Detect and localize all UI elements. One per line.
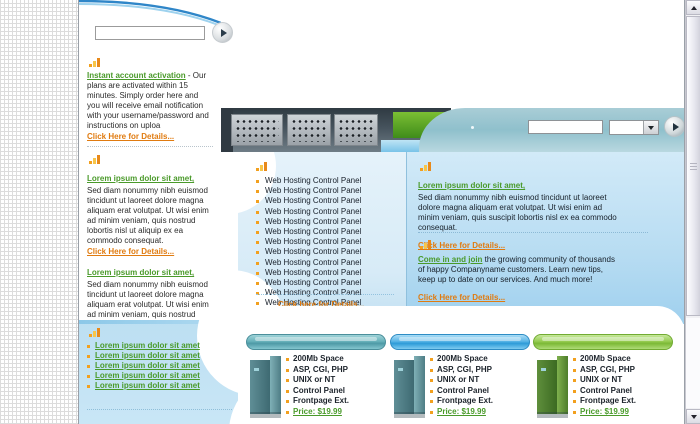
promo-block: Come in and join the growing community o… [418, 240, 618, 302]
bar-steps-icon [420, 240, 431, 249]
plan-card[interactable]: 200Mb Space ASP, CGI, PHP UNIX or NT Con… [390, 334, 530, 420]
header-select[interactable] [609, 120, 659, 135]
header-banner [221, 108, 685, 152]
promo-body-text: Come in and join the growing community o… [418, 255, 618, 285]
news-title-link[interactable]: Lorem ipsum dolor sit amet, [87, 174, 194, 183]
server-rack [287, 114, 331, 146]
plan-card[interactable]: 200Mb Space ASP, CGI, PHP UNIX or NT Con… [246, 334, 386, 420]
sidebar-link[interactable]: Lorem ipsum dolor sit amet [95, 351, 200, 360]
plan-feature: Frontpage Ext. [573, 396, 669, 407]
news-title-link[interactable]: Lorem ipsum dolor sit amet, [87, 268, 194, 277]
bar-steps-icon [89, 155, 100, 164]
server-racks-photo [221, 108, 451, 152]
play-arrow-icon [221, 29, 227, 37]
link-items: Lorem ipsum dolor sit amet Lorem ipsum d… [87, 341, 247, 391]
column-divider [406, 152, 407, 324]
sidebar-link[interactable]: Lorem ipsum dolor sit amet [95, 381, 200, 390]
plan-header-bar [533, 334, 673, 350]
chevron-down-icon[interactable] [643, 121, 658, 134]
website-content: Instant account activation - Our plans a… [78, 0, 685, 424]
chevron-up-icon [691, 6, 697, 10]
details-link[interactable]: Click Here for Details... [87, 247, 213, 256]
server-tower-icon [394, 356, 426, 418]
hosting-feature-list: Web Hosting Control Panel Web Hosting Co… [256, 176, 396, 309]
list-item: Web Hosting Control Panel [256, 237, 396, 247]
plan-features: 200Mb Space ASP, CGI, PHP UNIX or NT Con… [573, 354, 669, 417]
scroll-down-button[interactable] [686, 409, 700, 424]
plan-feature: 200Mb Space [286, 354, 382, 365]
plan-header-bar [390, 334, 530, 350]
header-toolbar [419, 108, 685, 152]
promo-title-link[interactable]: Lorem ipsum dolor sit amet, [418, 181, 525, 190]
bar-steps-icon [89, 328, 100, 337]
decorative-dot [471, 126, 474, 129]
divider [418, 232, 648, 233]
divider [87, 146, 213, 147]
list-item: Web Hosting Control Panel [256, 186, 396, 196]
plan-price[interactable]: Price: $19.99 [430, 407, 526, 418]
sidebar-link[interactable]: Lorem ipsum dolor sit amet [95, 341, 200, 350]
plan-price-link[interactable]: Price: $19.99 [580, 407, 629, 416]
list-item: Web Hosting Control Panel [256, 278, 396, 288]
list-item: Web Hosting Control Panel [256, 217, 396, 227]
search-input[interactable] [95, 26, 205, 40]
swoosh-svg [79, 0, 221, 26]
list-item[interactable]: Lorem ipsum dolor sit amet [87, 381, 247, 391]
plan-feature: UNIX or NT [430, 375, 526, 386]
plan-feature: Control Panel [573, 386, 669, 397]
details-link[interactable]: Click Here for Details... [418, 293, 618, 302]
details-link[interactable]: Click Here for Details... [87, 132, 213, 141]
news-item: Instant account activation - Our plans a… [87, 58, 213, 141]
header-swoosh-graphic [79, 0, 221, 26]
news-body-text: Sed diam nonummy nibh euismod tincidunt … [87, 186, 213, 246]
server-tower-icon [537, 356, 569, 418]
plan-feature: UNIX or NT [573, 375, 669, 386]
browser-page-canvas: Instant account activation - Our plans a… [0, 0, 700, 424]
vertical-scrollbar[interactable] [685, 0, 700, 424]
plan-feature: Frontpage Ext. [286, 396, 382, 407]
list-item: Web Hosting Control Panel [256, 227, 396, 237]
plan-price[interactable]: Price: $19.99 [286, 407, 382, 418]
plan-features: 200Mb Space ASP, CGI, PHP UNIX or NT Con… [286, 354, 382, 417]
plan-feature: ASP, CGI, PHP [286, 365, 382, 376]
plan-feature: ASP, CGI, PHP [430, 365, 526, 376]
news-text: Instant account activation - Our plans a… [87, 71, 213, 131]
plan-feature: Control Panel [286, 386, 382, 397]
search-go-button[interactable] [212, 22, 233, 43]
plans-row: 200Mb Space ASP, CGI, PHP UNIX or NT Con… [238, 324, 685, 424]
hosting-items: Web Hosting Control Panel Web Hosting Co… [256, 176, 396, 309]
list-item[interactable]: Lorem ipsum dolor sit amet [87, 371, 247, 381]
chevron-down-icon [691, 415, 697, 419]
list-item: Web Hosting Control Panel [256, 207, 396, 217]
bar-steps-icon [420, 162, 431, 171]
scrollbar-thumb[interactable] [686, 16, 700, 316]
promo-body-text: Sed diam nonummy nibh euismod tincidunt … [418, 193, 618, 233]
plan-price-link[interactable]: Price: $19.99 [293, 407, 342, 416]
server-tower-icon [250, 356, 282, 418]
grip-icon [690, 162, 697, 170]
header-go-button[interactable] [664, 116, 685, 137]
plan-feature: Control Panel [430, 386, 526, 397]
plan-features: 200Mb Space ASP, CGI, PHP UNIX or NT Con… [430, 354, 526, 417]
list-item: Web Hosting Control Panel [256, 247, 396, 257]
news-sidebar: Instant account activation - Our plans a… [79, 48, 221, 320]
plan-feature: 200Mb Space [573, 354, 669, 365]
sidebar-link[interactable]: Lorem ipsum dolor sit amet [95, 361, 200, 370]
list-item: Web Hosting Control Panel [256, 196, 396, 206]
list-item: Web Hosting Control Panel [256, 176, 396, 186]
plan-price-link[interactable]: Price: $19.99 [437, 407, 486, 416]
bar-steps-icon [89, 58, 100, 67]
promo-column: Lorem ipsum dolor sit amet, Sed diam non… [406, 152, 685, 324]
divider [256, 294, 394, 295]
list-item: Web Hosting Control Panel [256, 268, 396, 278]
news-title-link[interactable]: Instant account activation [87, 71, 186, 80]
bar-steps-icon [256, 162, 267, 171]
plan-header-bar [246, 334, 386, 350]
control-panel-column: Web Hosting Control Panel Web Hosting Co… [238, 152, 406, 324]
play-arrow-icon [673, 123, 679, 131]
list-item[interactable]: Lorem ipsum dolor sit amet [87, 361, 247, 371]
list-item: Web Hosting Control Panel [256, 258, 396, 268]
server-rack [231, 114, 283, 146]
promo-block: Lorem ipsum dolor sit amet, Sed diam non… [418, 156, 618, 250]
plan-feature: Frontpage Ext. [430, 396, 526, 407]
plan-feature: 200Mb Space [430, 354, 526, 365]
scrollbar-track[interactable] [686, 318, 700, 408]
promo-title-link[interactable]: Come in and join [418, 255, 482, 264]
plan-feature: UNIX or NT [286, 375, 382, 386]
scroll-up-button[interactable] [686, 0, 700, 15]
news-item: Lorem ipsum dolor sit amet, Sed diam non… [87, 155, 213, 256]
plan-card[interactable]: 200Mb Space ASP, CGI, PHP UNIX or NT Con… [533, 334, 673, 420]
sidebar-link[interactable]: Lorem ipsum dolor sit amet [95, 371, 200, 380]
server-rack [334, 114, 378, 146]
plan-feature: ASP, CGI, PHP [573, 365, 669, 376]
list-item[interactable]: Lorem ipsum dolor sit amet [87, 351, 247, 361]
divider [87, 409, 232, 410]
header-search-input[interactable] [528, 120, 603, 134]
plan-price[interactable]: Price: $19.99 [573, 407, 669, 418]
